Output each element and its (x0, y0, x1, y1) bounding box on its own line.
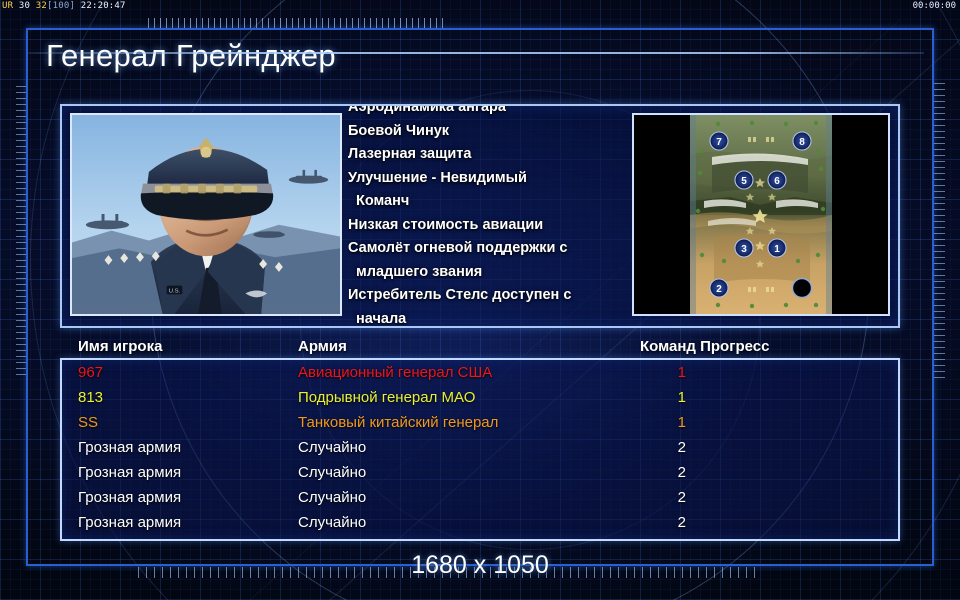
player-name[interactable]: Грозная армия (78, 439, 181, 456)
page-title: Генерал Грейнджер (46, 36, 916, 76)
top-status-bar: UR 30 32[100] 22:20:47 00:00:00 (0, 0, 960, 13)
player-name[interactable]: 813 (78, 389, 103, 406)
trait-item: Боевой Чинук (348, 120, 638, 144)
fps-highlight: 32 (36, 1, 47, 11)
svg-text:2: 2 (716, 284, 722, 295)
fps-debug-text: UR 30 32[100] 22:20:47 (2, 0, 126, 12)
player-army[interactable]: Подрывной генерал МАО (298, 389, 475, 406)
trait-item: Истребитель Стелс доступен с (348, 284, 638, 308)
map-image: 7 8 5 6 3 1 2 (690, 115, 832, 314)
player-progress (717, 392, 885, 403)
player-progress (717, 417, 885, 428)
svg-text:3: 3 (741, 244, 747, 255)
column-header-team-progress: Команд Прогресс (640, 338, 769, 355)
ruler-right (934, 78, 945, 378)
page-title-area: Генерал Грейнджер (46, 36, 916, 84)
title-divider (28, 52, 924, 54)
general-portrait: U.S. (70, 113, 342, 316)
trait-item: Низкая стоимость авиации (348, 214, 638, 238)
player-army[interactable]: Случайно (298, 464, 366, 481)
player-name[interactable]: Грозная армия (78, 514, 181, 531)
svg-text:1: 1 (774, 244, 780, 255)
player-team[interactable]: 2 (666, 439, 686, 456)
svg-text:6: 6 (774, 176, 780, 187)
player-name[interactable]: 967 (78, 364, 103, 381)
table-row[interactable]: Грозная армия Случайно 2 (62, 460, 898, 485)
game-screen: UR 30 32[100] 22:20:47 00:00:00 Генерал … (0, 0, 960, 600)
fps-bracket: [100] (47, 1, 75, 11)
table-row[interactable]: Грозная армия Случайно 2 (62, 485, 898, 510)
column-header-army: Армия (298, 338, 347, 355)
trait-item: Аэродинамика ангара (348, 106, 638, 120)
table-row[interactable]: Грозная армия Случайно 2 (62, 510, 898, 535)
ruler-left (16, 85, 26, 375)
player-team[interactable]: 2 (666, 489, 686, 506)
resolution-label: 1680 x 1050 (0, 551, 960, 580)
player-army[interactable]: Танковый китайский генерал (298, 414, 498, 431)
player-name[interactable]: Грозная армия (78, 464, 181, 481)
fps-value: 30 (19, 1, 30, 11)
session-time: 22:20:47 (81, 1, 126, 11)
table-row[interactable]: 967 Авиационный генерал США 1 (62, 360, 898, 385)
trait-item: Лазерная защита (348, 143, 638, 167)
svg-text:7: 7 (716, 137, 722, 148)
fps-prefix: UR (2, 1, 13, 11)
trait-item: начала (348, 308, 638, 329)
player-team[interactable]: 1 (666, 389, 686, 406)
player-army[interactable]: Авиационный генерал США (298, 364, 492, 381)
player-team[interactable]: 2 (666, 464, 686, 481)
player-progress (717, 367, 885, 378)
player-list-headers: Имя игрока Армия Команд Прогресс (60, 338, 900, 358)
svg-text:8: 8 (799, 137, 805, 148)
general-traits-list: Аэродинамика ангара Боевой Чинук Лазерна… (348, 106, 638, 328)
table-row[interactable]: SS Танковый китайский генерал 1 (62, 410, 898, 435)
player-list-panel: 967 Авиационный генерал США 1 813 Подрыв… (60, 358, 900, 541)
traits-items: Аэродинамика ангара Боевой Чинук Лазерна… (348, 106, 638, 328)
table-row[interactable]: Грозная армия Случайно 2 (62, 435, 898, 460)
player-army[interactable]: Случайно (298, 439, 366, 456)
player-team[interactable]: 1 (666, 414, 686, 431)
svg-text:5: 5 (741, 176, 747, 187)
svg-text:U.S.: U.S. (169, 288, 181, 294)
player-team[interactable]: 2 (666, 514, 686, 531)
player-name[interactable]: SS (78, 414, 98, 431)
general-info-panel: U.S. Аэродинамика ангара Боевой Чинук Ла… (60, 104, 900, 328)
player-team[interactable]: 1 (666, 364, 686, 381)
trait-item: Команч (348, 190, 638, 214)
ruler-top (148, 18, 448, 28)
column-header-player-name: Имя игрока (78, 338, 162, 355)
trait-item: Самолёт огневой поддержки с (348, 237, 638, 261)
trait-item: Улучшение - Невидимый (348, 167, 638, 191)
table-row[interactable]: 813 Подрывной генерал МАО 1 (62, 385, 898, 410)
trait-item: младшего звания (348, 261, 638, 285)
map-preview[interactable]: 7 8 5 6 3 1 2 (632, 113, 890, 316)
player-name[interactable]: Грозная армия (78, 489, 181, 506)
player-army[interactable]: Случайно (298, 489, 366, 506)
game-clock: 00:00:00 (913, 0, 956, 12)
player-army[interactable]: Случайно (298, 514, 366, 531)
